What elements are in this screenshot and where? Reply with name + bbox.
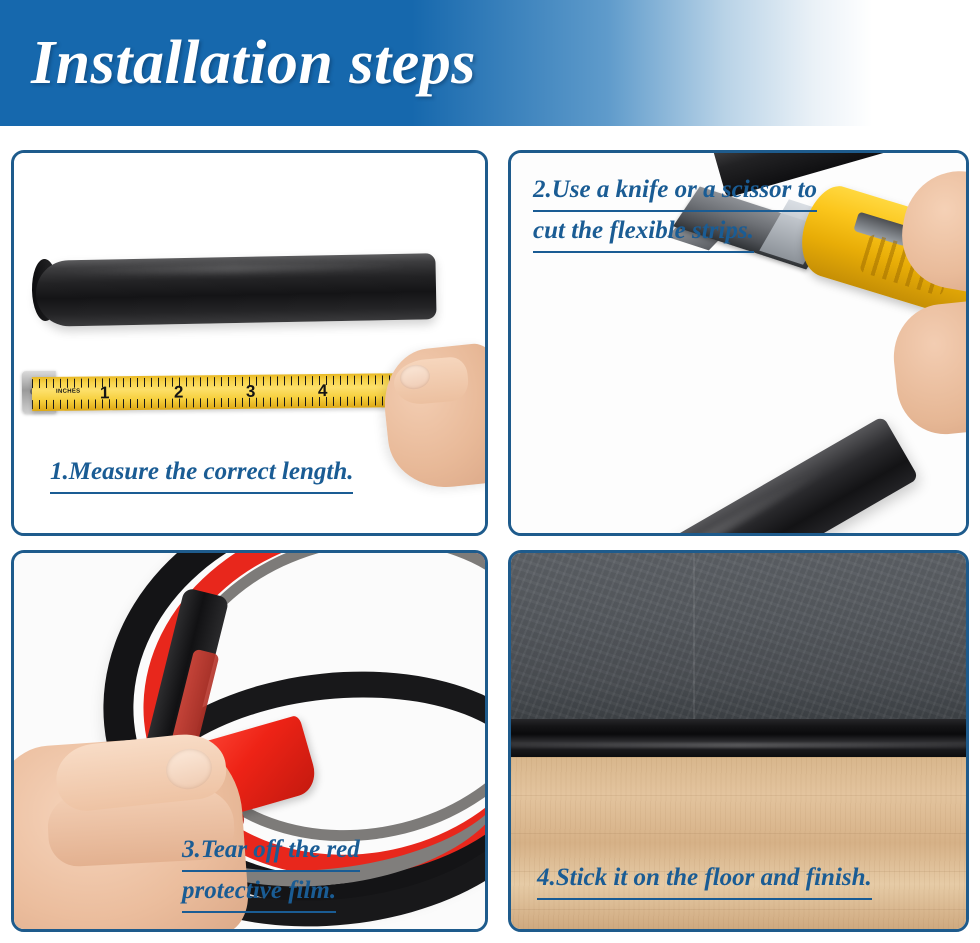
step-card-4: 4.Stick it on the floor and finish. — [508, 550, 969, 932]
step-4-caption: 4.Stick it on the floor and finish. — [537, 859, 872, 900]
wall-panel-seam — [693, 553, 695, 719]
step-2-caption-line-2: cut the flexible strips. — [533, 212, 754, 253]
step-card-2: 2.Use a knife or a scissor to cut the fl… — [508, 150, 969, 536]
step-3-caption-line-2: protective film. — [182, 872, 336, 913]
step-4-caption-line-1: 4.Stick it on the floor and finish. — [537, 859, 872, 900]
step-3-caption-line-1: 3.Tear off the red — [182, 831, 360, 872]
step-1-caption: 1.Measure the correct length. — [50, 453, 353, 494]
step-card-3: 3.Tear off the red protective film. — [11, 550, 488, 932]
tape-number-2: 2 — [174, 383, 184, 403]
installed-black-trim — [511, 719, 966, 757]
step-3-caption: 3.Tear off the red protective film. — [182, 831, 360, 913]
header-banner: Installation steps — [0, 0, 980, 126]
step-2-caption-line-1: 2.Use a knife or a scissor to — [533, 171, 817, 212]
grey-wall — [511, 553, 966, 719]
wood-floor — [511, 757, 966, 929]
step-card-1: INCHES 1 2 3 4 5 1.Measure the correct l… — [11, 150, 488, 536]
tape-number-3: 3 — [246, 382, 256, 402]
tape-number-4: 4 — [318, 381, 328, 401]
black-trim-strip — [35, 253, 436, 327]
step-1-caption-line-1: 1.Measure the correct length. — [50, 453, 353, 494]
steps-grid: INCHES 1 2 3 4 5 1.Measure the correct l… — [11, 150, 969, 932]
step-2-caption: 2.Use a knife or a scissor to cut the fl… — [533, 171, 817, 253]
tape-number-1: 1 — [100, 383, 110, 403]
page-title: Installation steps — [31, 20, 476, 106]
trim-highlight — [511, 743, 966, 748]
tape-measure: INCHES 1 2 3 4 5 — [32, 373, 432, 411]
tape-numbers: 1 2 3 4 5 — [32, 373, 432, 411]
